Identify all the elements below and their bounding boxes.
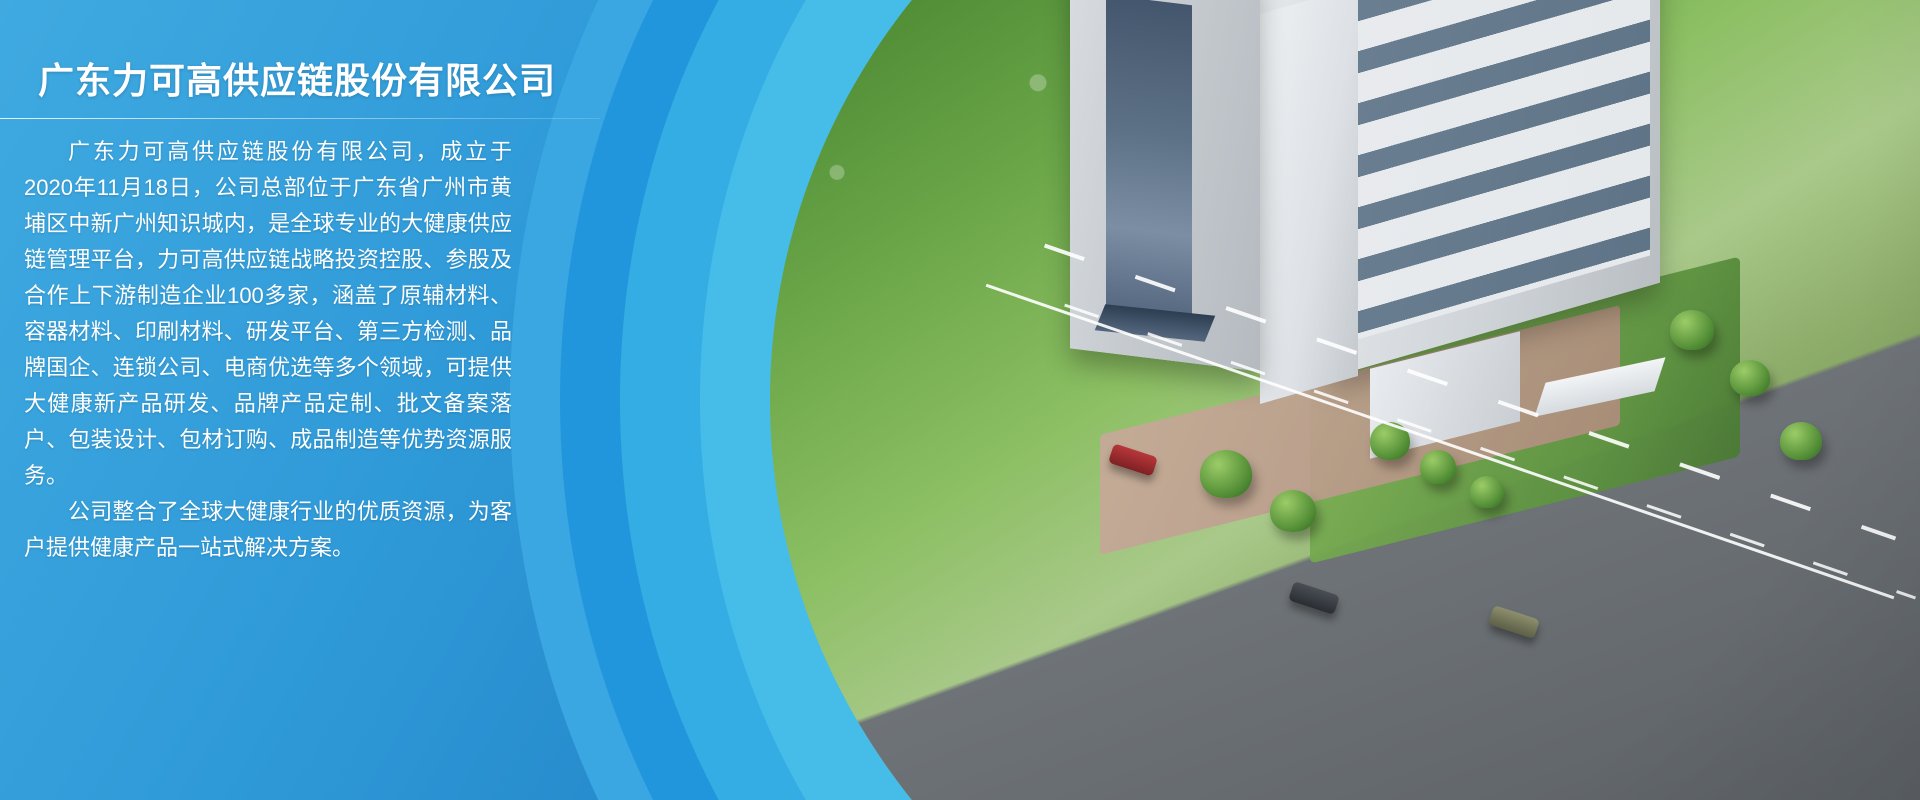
description-paragraph-1: 广东力可高供应链股份有限公司，成立于2020年11月18日，公司总部位于广东省广… — [24, 134, 512, 494]
description-paragraph-2: 公司整合了全球大健康行业的优质资源，为客户提供健康产品一站式解决方案。 — [24, 494, 512, 566]
text-panel: 广东力可高供应链股份有限公司 广东力可高供应链股份有限公司，成立于2020年11… — [0, 0, 620, 800]
building-photo-disc — [770, 0, 1920, 800]
title-divider — [0, 118, 600, 119]
company-description: 广东力可高供应链股份有限公司，成立于2020年11月18日，公司总部位于广东省广… — [24, 134, 512, 566]
photo-vignette — [770, 0, 1920, 800]
building-rendering-image — [770, 0, 1920, 800]
company-profile-banner: 广东力可高供应链股份有限公司 广东力可高供应链股份有限公司，成立于2020年11… — [0, 0, 1920, 800]
page-title: 广东力可高供应链股份有限公司 — [38, 52, 556, 104]
